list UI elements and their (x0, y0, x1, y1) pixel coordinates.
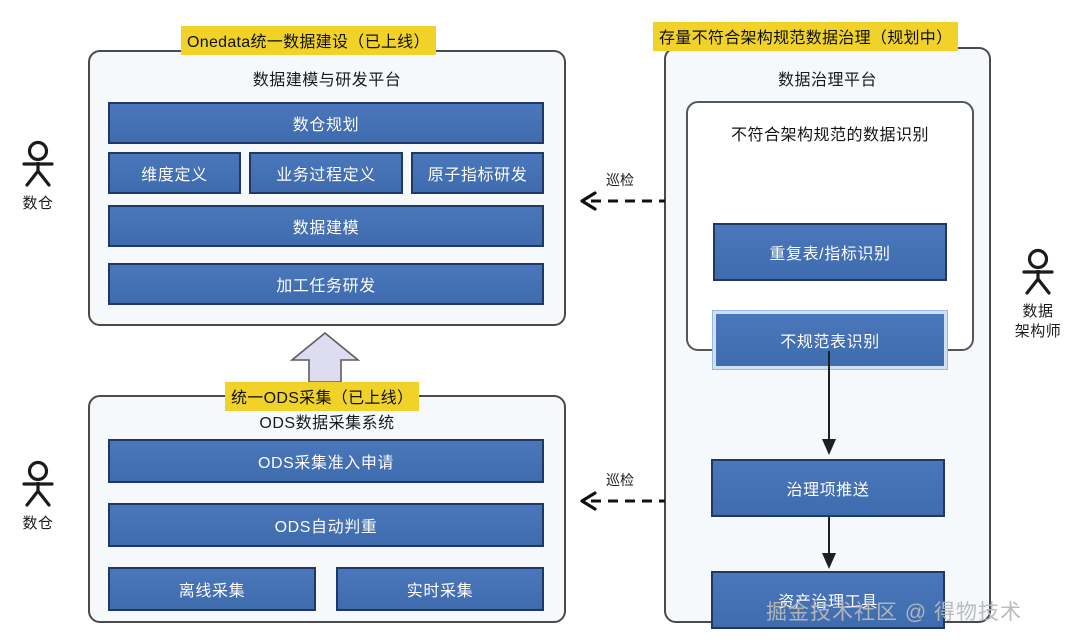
down-arrow-connector-1 (814, 351, 844, 464)
down-arrow-connector-2 (814, 517, 844, 576)
panel-title: 数据治理平台 (666, 66, 989, 90)
panel-ods-collection-system: ODS数据采集系统 ODS采集准入申请 ODS自动判重 离线采集 实时采集 (88, 395, 566, 623)
actor-dw-bottom: 数仓 (0, 460, 76, 534)
caption-onedata: Onedata统一数据建设（已上线） (181, 26, 436, 55)
subpanel-nonstandard-data-identification: 不符合架构规范的数据识别 重复表/指标识别 不规范表识别 (686, 101, 974, 351)
box-ods-access-application[interactable]: ODS采集准入申请 (108, 439, 544, 483)
actor-label: 数仓 (0, 514, 76, 534)
box-business-process-definition[interactable]: 业务过程定义 (249, 152, 403, 194)
person-icon (0, 140, 76, 188)
person-icon (0, 460, 76, 508)
subpanel-title: 不符合架构规范的数据识别 (688, 121, 972, 145)
box-dw-planning[interactable]: 数仓规划 (108, 102, 544, 144)
panel-data-governance-platform: 数据治理平台 不符合架构规范的数据识别 重复表/指标识别 不规范表识别 治理项推… (664, 47, 991, 623)
up-block-arrow-icon (289, 330, 361, 389)
panel-data-modeling-platform: 数据建模与研发平台 数仓规划 维度定义 业务过程定义 原子指标研发 数据建模 加… (88, 50, 566, 326)
actor-label: 数据 架构师 (1000, 302, 1076, 342)
caption-unified-ods: 统一ODS采集（已上线） (225, 382, 419, 411)
diagram-canvas: 数仓 数仓 数据 架构师 Onedata统一数据建设（已 (0, 0, 1080, 642)
box-etl-task-development[interactable]: 加工任务研发 (108, 263, 544, 305)
box-dimension-definition[interactable]: 维度定义 (108, 152, 241, 194)
box-realtime-collection[interactable]: 实时采集 (336, 567, 544, 611)
inspection-label: 巡检 (606, 170, 634, 190)
watermark: 掘金技术社区 @ 得物技术 (766, 596, 1022, 626)
actor-dw-top: 数仓 (0, 140, 76, 214)
inspection-label: 巡检 (606, 470, 634, 490)
inspection-arrow-top: 巡检 (575, 190, 665, 212)
box-atomic-metric-development[interactable]: 原子指标研发 (411, 152, 544, 194)
actor-data-architect: 数据 架构师 (1000, 248, 1076, 342)
box-offline-collection[interactable]: 离线采集 (108, 567, 316, 611)
caption-data-governance: 存量不符合架构规范数据治理（规划中） (653, 22, 958, 51)
panel-title: ODS数据采集系统 (90, 409, 564, 433)
box-duplicate-table-metric-identification[interactable]: 重复表/指标识别 (713, 223, 947, 281)
panel-title: 数据建模与研发平台 (90, 66, 564, 90)
box-ods-auto-dedupe[interactable]: ODS自动判重 (108, 503, 544, 547)
box-governance-item-push[interactable]: 治理项推送 (711, 459, 945, 517)
actor-label: 数仓 (0, 194, 76, 214)
inspection-arrow-bottom: 巡检 (575, 490, 665, 512)
box-data-modeling[interactable]: 数据建模 (108, 205, 544, 247)
person-icon (1000, 248, 1076, 296)
